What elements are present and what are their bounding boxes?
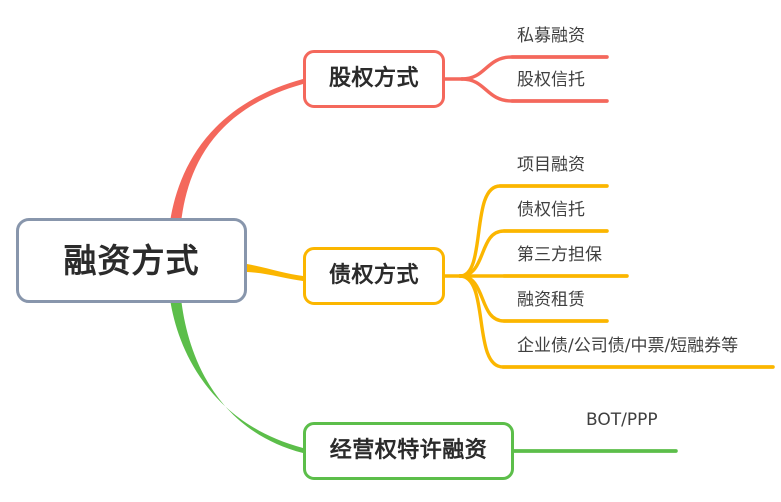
leaf-franchise-bot-ppp[interactable]: BOT/PPP (586, 412, 658, 429)
branch-node-franchise[interactable]: 经营权特许融资 (303, 422, 514, 480)
leaf-debt-credit-trust[interactable]: 债权信托 (517, 202, 585, 219)
branch-node-debt-label: 债权方式 (329, 265, 419, 287)
leaf-debt-finance-lease[interactable]: 融资租赁 (517, 292, 585, 309)
branch-node-equity-label: 股权方式 (329, 68, 419, 90)
root-node[interactable]: 融资方式 (16, 218, 247, 303)
branch-node-franchise-label: 经营权特许融资 (330, 440, 488, 462)
leaf-label: 债权信托 (517, 200, 585, 220)
leaf-equity-trust[interactable]: 股权信托 (517, 72, 585, 89)
leaf-label: 项目融资 (517, 155, 585, 175)
leaf-label: 第三方担保 (517, 245, 602, 265)
connector-root-to-franchise (170, 298, 303, 453)
leaf-label: BOT/PPP (586, 410, 658, 430)
leaf-label: 企业债/公司债/中票/短融券等 (517, 336, 738, 356)
leaf-label: 私募融资 (517, 26, 585, 46)
leaf-label: 股权信托 (517, 70, 585, 90)
root-node-label: 融资方式 (64, 244, 200, 277)
mindmap-canvas: 融资方式 股权方式 债权方式 经营权特许融资 私募融资 股权信托 项目融资 债权… (0, 0, 781, 502)
connector-root-to-debt (247, 264, 303, 281)
leaf-debt-third-party-guarantee[interactable]: 第三方担保 (517, 247, 602, 264)
leaf-equity-private-placement[interactable]: 私募融资 (517, 28, 585, 45)
leaf-debt-project-financing[interactable]: 项目融资 (517, 157, 585, 174)
branch-node-equity[interactable]: 股权方式 (303, 50, 445, 108)
leaf-debt-bonds[interactable]: 企业债/公司债/中票/短融券等 (517, 338, 738, 355)
branch-node-debt[interactable]: 债权方式 (303, 247, 445, 305)
leaf-label: 融资租赁 (517, 290, 585, 310)
connector-root-to-equity (170, 79, 303, 223)
